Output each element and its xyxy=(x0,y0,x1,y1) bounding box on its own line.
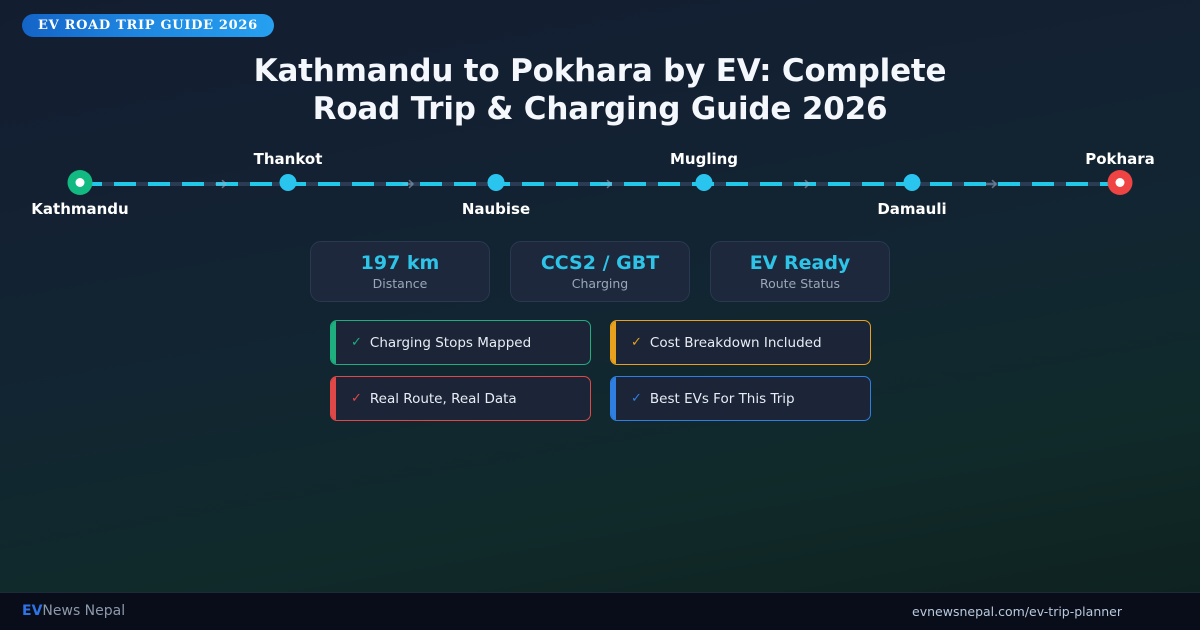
page-title-line-2: Road Trip & Charging Guide 2026 xyxy=(0,90,1200,128)
check-icon: ✓ xyxy=(351,336,362,349)
page-title-line-1: Kathmandu to Pokhara by EV: Complete xyxy=(0,52,1200,90)
route-stop-marker-icon xyxy=(488,174,505,191)
check-icon: ✓ xyxy=(351,392,362,405)
check-icon: ✓ xyxy=(631,392,642,405)
route-stop-label: Kathmandu xyxy=(31,200,128,218)
footer-site-url: evnewsnepal.com/ev-trip-planner xyxy=(912,604,1122,619)
feature-card-accent-bar xyxy=(611,321,616,364)
footer-bar: EVNews Nepal evnewsnepal.com/ev-trip-pla… xyxy=(0,593,1200,630)
route-direction-arrow-icon xyxy=(215,177,229,191)
stat-card-label: Distance xyxy=(373,276,428,291)
feature-card-label: Cost Breakdown Included xyxy=(650,335,822,351)
feature-card[interactable]: ✓Charging Stops Mapped xyxy=(330,320,591,365)
stat-card: 197 kmDistance xyxy=(310,241,490,302)
feature-card-accent-bar xyxy=(331,377,336,420)
route-direction-arrow-icon xyxy=(798,177,812,191)
route-stop-label: Thankot xyxy=(254,150,323,168)
stat-card: EV ReadyRoute Status xyxy=(710,241,890,302)
feature-card[interactable]: ✓Real Route, Real Data xyxy=(330,376,591,421)
route-stop-marker-icon xyxy=(1108,170,1133,195)
route-stop-label: Pokhara xyxy=(1085,150,1155,168)
category-badge: EV ROAD TRIP GUIDE 2026 xyxy=(22,14,274,37)
stat-card-value: EV Ready xyxy=(750,252,851,274)
page-title: Kathmandu to Pokhara by EV: Complete Roa… xyxy=(0,52,1200,128)
poster-canvas: EV ROAD TRIP GUIDE 2026 Kathmandu to Pok… xyxy=(0,0,1200,630)
route-stop-marker-icon xyxy=(280,174,297,191)
feature-card-grid: ✓Charging Stops Mapped✓Cost Breakdown In… xyxy=(330,320,871,421)
feature-card-accent-bar xyxy=(331,321,336,364)
stat-card: CCS2 / GBTCharging xyxy=(510,241,690,302)
route-direction-arrow-icon xyxy=(985,177,999,191)
route-stop-label: Mugling xyxy=(670,150,738,168)
route-stop-marker-icon xyxy=(696,174,713,191)
category-badge-label: EV ROAD TRIP GUIDE 2026 xyxy=(38,18,258,33)
feature-card-label: Best EVs For This Trip xyxy=(650,391,795,407)
brand-logo: EVNews Nepal xyxy=(22,603,125,619)
check-icon: ✓ xyxy=(631,336,642,349)
stat-card-label: Route Status xyxy=(760,276,840,291)
stat-card-row: 197 kmDistanceCCS2 / GBTChargingEV Ready… xyxy=(0,241,1200,302)
route-stop-marker-icon xyxy=(68,170,93,195)
feature-card-label: Charging Stops Mapped xyxy=(370,335,531,351)
brand-logo-accent: EV xyxy=(22,603,42,619)
route-timeline: KathmanduThankotNaubiseMuglingDamauliPok… xyxy=(0,140,1200,230)
route-stop-label: Damauli xyxy=(877,200,946,218)
feature-card-label: Real Route, Real Data xyxy=(370,391,517,407)
stat-card-label: Charging xyxy=(572,276,629,291)
route-stop-marker-icon xyxy=(904,174,921,191)
route-direction-arrow-icon xyxy=(600,177,614,191)
feature-card[interactable]: ✓Best EVs For This Trip xyxy=(610,376,871,421)
route-direction-arrow-icon xyxy=(402,177,416,191)
stat-card-value: 197 km xyxy=(361,252,440,274)
feature-card-accent-bar xyxy=(611,377,616,420)
feature-card[interactable]: ✓Cost Breakdown Included xyxy=(610,320,871,365)
brand-logo-name: News Nepal xyxy=(42,603,125,619)
stat-card-value: CCS2 / GBT xyxy=(541,252,659,274)
route-line xyxy=(80,182,1120,186)
route-stop-label: Naubise xyxy=(462,200,530,218)
